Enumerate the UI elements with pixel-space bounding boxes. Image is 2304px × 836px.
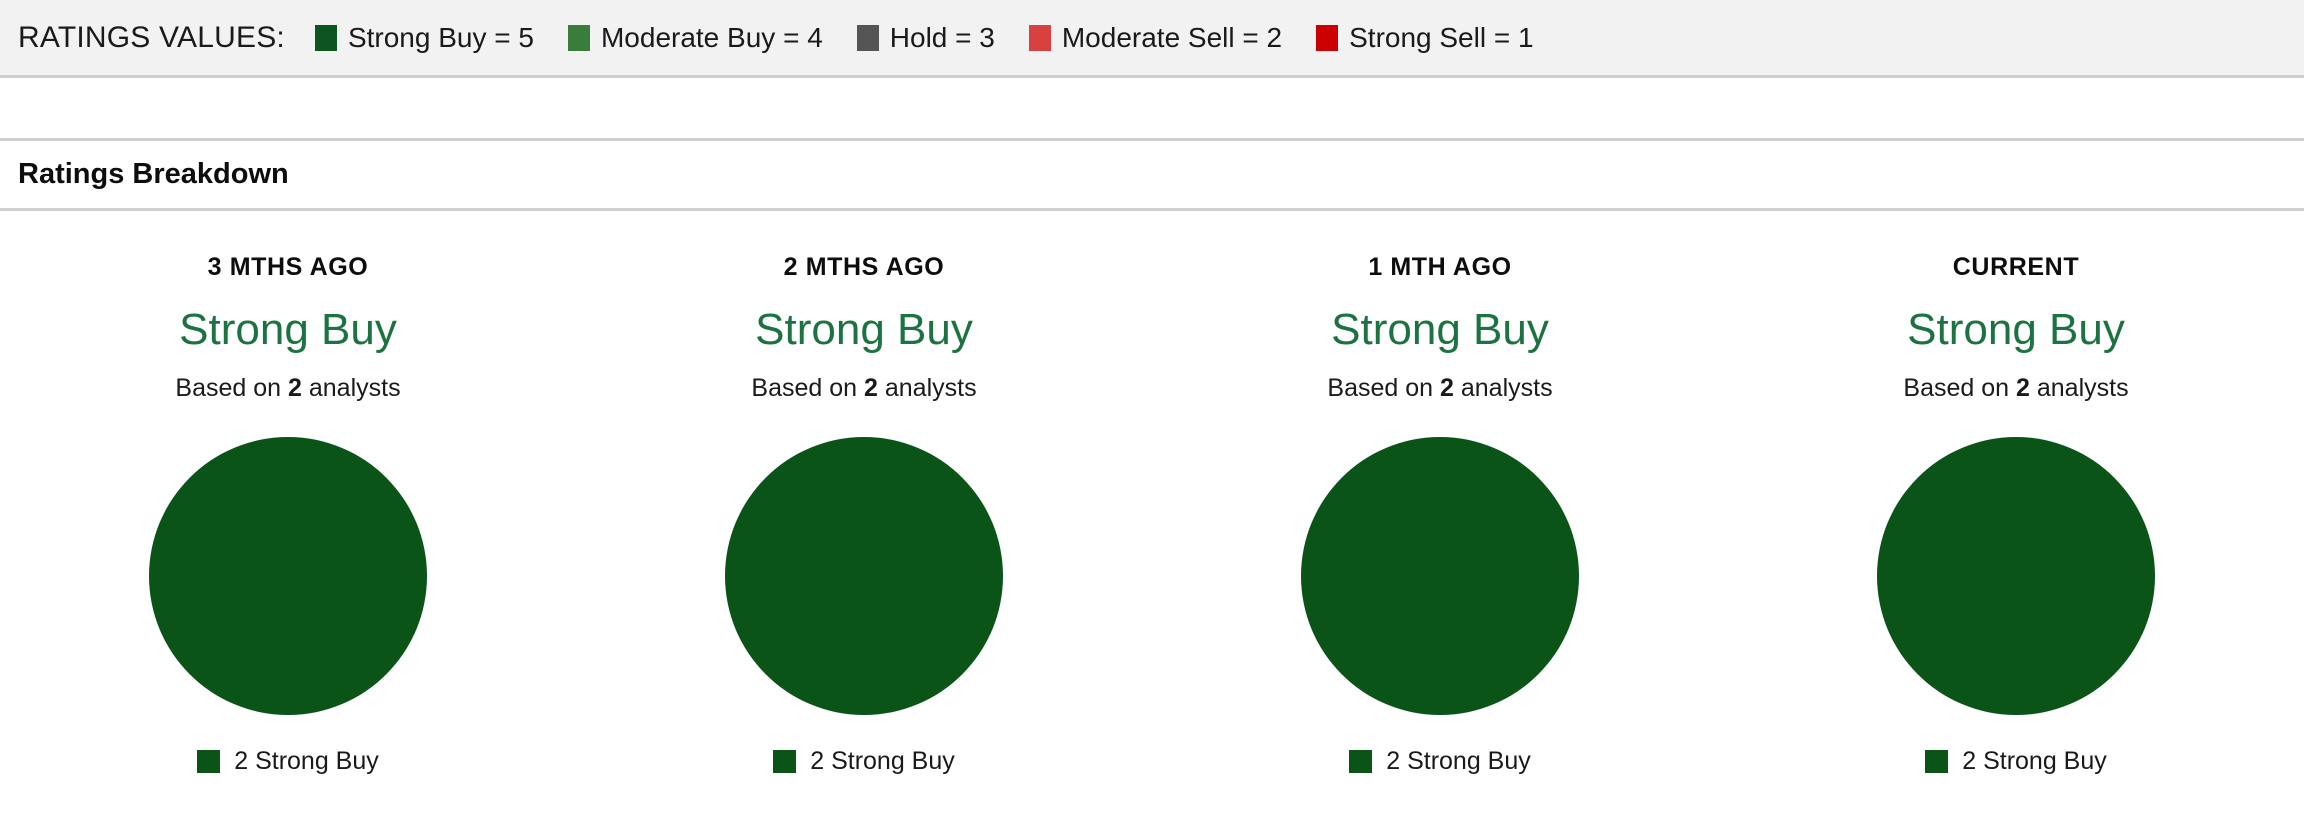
swatch-hold-icon: [857, 25, 879, 51]
ratings-value-label: Strong Buy = 5: [348, 22, 534, 54]
ratings-value-label: Moderate Buy = 4: [601, 22, 823, 54]
ratings-value-label: Hold = 3: [890, 22, 995, 54]
ratings-breakdown-column: CURRENTStrong BuyBased on 2 analysts2 St…: [1728, 253, 2304, 776]
analyst-basis-text: Based on 2 analysts: [1903, 374, 2128, 403]
analyst-basis-prefix: Based on: [1327, 374, 1440, 402]
ratings-breakdown-columns: 3 MTHS AGOStrong BuyBased on 2 analysts2…: [0, 211, 2304, 776]
pie-legend-swatch-icon: [1349, 750, 1372, 773]
ratings-values-title: RATINGS VALUES:: [18, 21, 285, 55]
period-label: 2 MTHS AGO: [784, 253, 945, 282]
ratings-value-item-moderate-sell: Moderate Sell = 2: [1029, 22, 1282, 54]
consensus-rating-label: Strong Buy: [1907, 308, 2125, 352]
analyst-basis-suffix: analysts: [302, 374, 401, 402]
pie-legend-swatch-icon: [773, 750, 796, 773]
ratings-value-item-strong-buy: Strong Buy = 5: [315, 22, 534, 54]
analyst-basis-suffix: analysts: [2030, 374, 2129, 402]
pie-legend-label: 2 Strong Buy: [810, 747, 955, 776]
pie-legend-swatch-icon: [197, 750, 220, 773]
analyst-count: 2: [864, 374, 878, 402]
ratings-breakdown-column: 2 MTHS AGOStrong BuyBased on 2 analysts2…: [576, 253, 1152, 776]
analyst-basis-suffix: analysts: [878, 374, 977, 402]
pie-legend: 2 Strong Buy: [1349, 747, 1531, 776]
ratings-breakdown-column: 3 MTHS AGOStrong BuyBased on 2 analysts2…: [0, 253, 576, 776]
swatch-moderate-sell-icon: [1029, 25, 1051, 51]
pie-legend: 2 Strong Buy: [773, 747, 955, 776]
consensus-rating-label: Strong Buy: [1331, 308, 1549, 352]
swatch-moderate-buy-icon: [568, 25, 590, 51]
analyst-count: 2: [1440, 374, 1454, 402]
analyst-basis-prefix: Based on: [751, 374, 864, 402]
pie-legend-swatch-icon: [1925, 750, 1948, 773]
pie-legend-label: 2 Strong Buy: [234, 747, 379, 776]
analyst-basis-prefix: Based on: [1903, 374, 2016, 402]
analyst-basis-text: Based on 2 analysts: [751, 374, 976, 403]
period-label: 3 MTHS AGO: [208, 253, 369, 282]
pie-legend-label: 2 Strong Buy: [1386, 747, 1531, 776]
analyst-basis-suffix: analysts: [1454, 374, 1553, 402]
ratings-value-item-strong-sell: Strong Sell = 1: [1316, 22, 1533, 54]
analyst-count: 2: [2016, 374, 2030, 402]
period-label: 1 MTH AGO: [1368, 253, 1511, 282]
consensus-rating-label: Strong Buy: [755, 308, 973, 352]
ratings-pie-chart: [1301, 437, 1579, 715]
ratings-pie-chart: [1877, 437, 2155, 715]
ratings-value-item-moderate-buy: Moderate Buy = 4: [568, 22, 823, 54]
swatch-strong-buy-icon: [315, 25, 337, 51]
analyst-basis-text: Based on 2 analysts: [175, 374, 400, 403]
analyst-basis-text: Based on 2 analysts: [1327, 374, 1552, 403]
analyst-count: 2: [288, 374, 302, 402]
period-label: CURRENT: [1953, 253, 2079, 282]
ratings-value-item-hold: Hold = 3: [857, 22, 995, 54]
ratings-pie-chart: [725, 437, 1003, 715]
ratings-values-legend: Strong Buy = 5Moderate Buy = 4Hold = 3Mo…: [315, 22, 1534, 54]
ratings-pie-chart: [149, 437, 427, 715]
ratings-breakdown-header: Ratings Breakdown: [0, 141, 2304, 211]
spacer-strip: [0, 78, 2304, 141]
ratings-value-label: Strong Sell = 1: [1349, 22, 1533, 54]
pie-legend: 2 Strong Buy: [197, 747, 379, 776]
ratings-value-label: Moderate Sell = 2: [1062, 22, 1282, 54]
ratings-values-bar: RATINGS VALUES: Strong Buy = 5Moderate B…: [0, 0, 2304, 78]
swatch-strong-sell-icon: [1316, 25, 1338, 51]
section-title: Ratings Breakdown: [18, 158, 289, 191]
pie-legend: 2 Strong Buy: [1925, 747, 2107, 776]
analyst-basis-prefix: Based on: [175, 374, 288, 402]
ratings-breakdown-column: 1 MTH AGOStrong BuyBased on 2 analysts2 …: [1152, 253, 1728, 776]
pie-legend-label: 2 Strong Buy: [1962, 747, 2107, 776]
consensus-rating-label: Strong Buy: [179, 308, 397, 352]
